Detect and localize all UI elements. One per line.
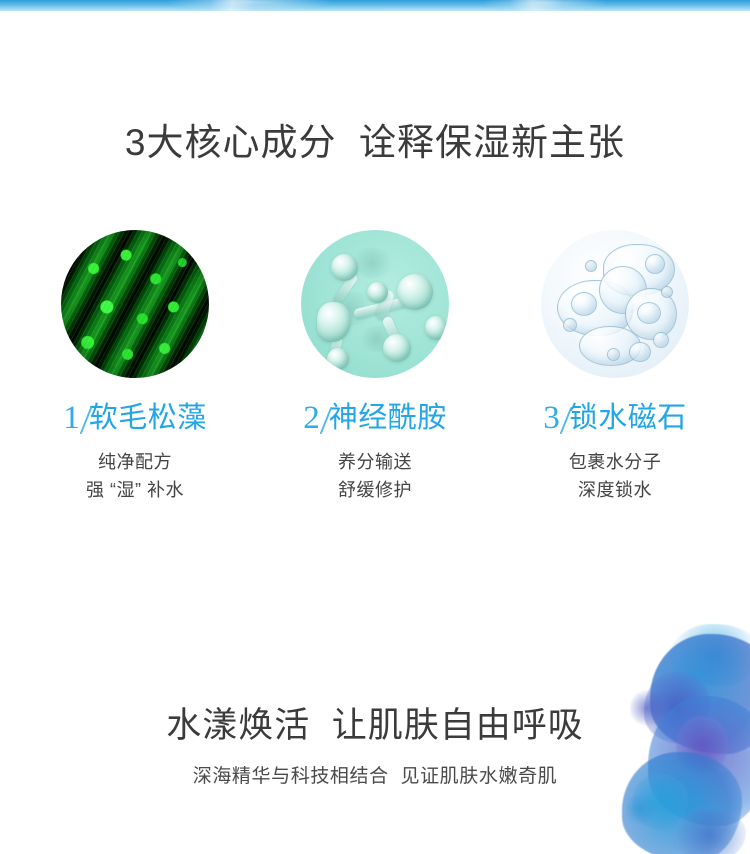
ingredient-card-1: 1 软毛松藻 纯净配方 强 “湿” 补水 (15, 224, 255, 504)
ingredient-image-3 (535, 224, 695, 384)
ingredient-name-1: 软毛松藻 (89, 402, 207, 434)
footer-heading: 水漾焕活 让肌肤自由呼吸 (0, 702, 750, 750)
ingredient-image-2 (295, 224, 455, 384)
ingredient-number-1: 1 (63, 401, 87, 435)
green-algae-macro-photo (61, 230, 209, 378)
ingredient-disc-2 (301, 230, 449, 378)
ingredient-number-3: 3 (543, 401, 567, 435)
ingredient-image-1 (55, 224, 215, 384)
ingredient-title-2: 2 神经酰胺 (303, 396, 447, 434)
ingredient-title-1: 1 软毛松藻 (63, 396, 207, 434)
ingredient-card-list: 1 软毛松藻 纯净配方 强 “湿” 补水 (0, 224, 750, 504)
ingredient-description-3: 包裹水分子 深度锁水 (569, 448, 662, 504)
ingredient-card-2: 2 神经酰胺 养分输送 舒缓修护 (255, 224, 495, 504)
blue-water-bubbles-illustration (541, 230, 689, 378)
ingredient-disc-3 (541, 230, 689, 378)
teal-molecule-illustration (301, 230, 449, 378)
ingredient-description-2: 养分输送 舒缓修护 (338, 448, 412, 504)
ingredient-number-2: 2 (303, 401, 327, 435)
ingredient-disc-1 (61, 230, 209, 378)
ingredient-description-1: 纯净配方 强 “湿” 补水 (86, 448, 184, 504)
page-title: 3大核心成分 诠释保湿新主张 (0, 118, 750, 168)
ingredient-title-3: 3 锁水磁石 (543, 396, 687, 434)
top-watercolor-band (0, 0, 750, 11)
ingredient-card-3: 3 锁水磁石 包裹水分子 深度锁水 (495, 224, 735, 504)
ingredient-name-3: 锁水磁石 (569, 402, 687, 434)
ingredient-name-2: 神经酰胺 (329, 402, 447, 434)
footer-subtitle: 深海精华与科技相结合 见证肌肤水嫩奇肌 (0, 762, 750, 792)
